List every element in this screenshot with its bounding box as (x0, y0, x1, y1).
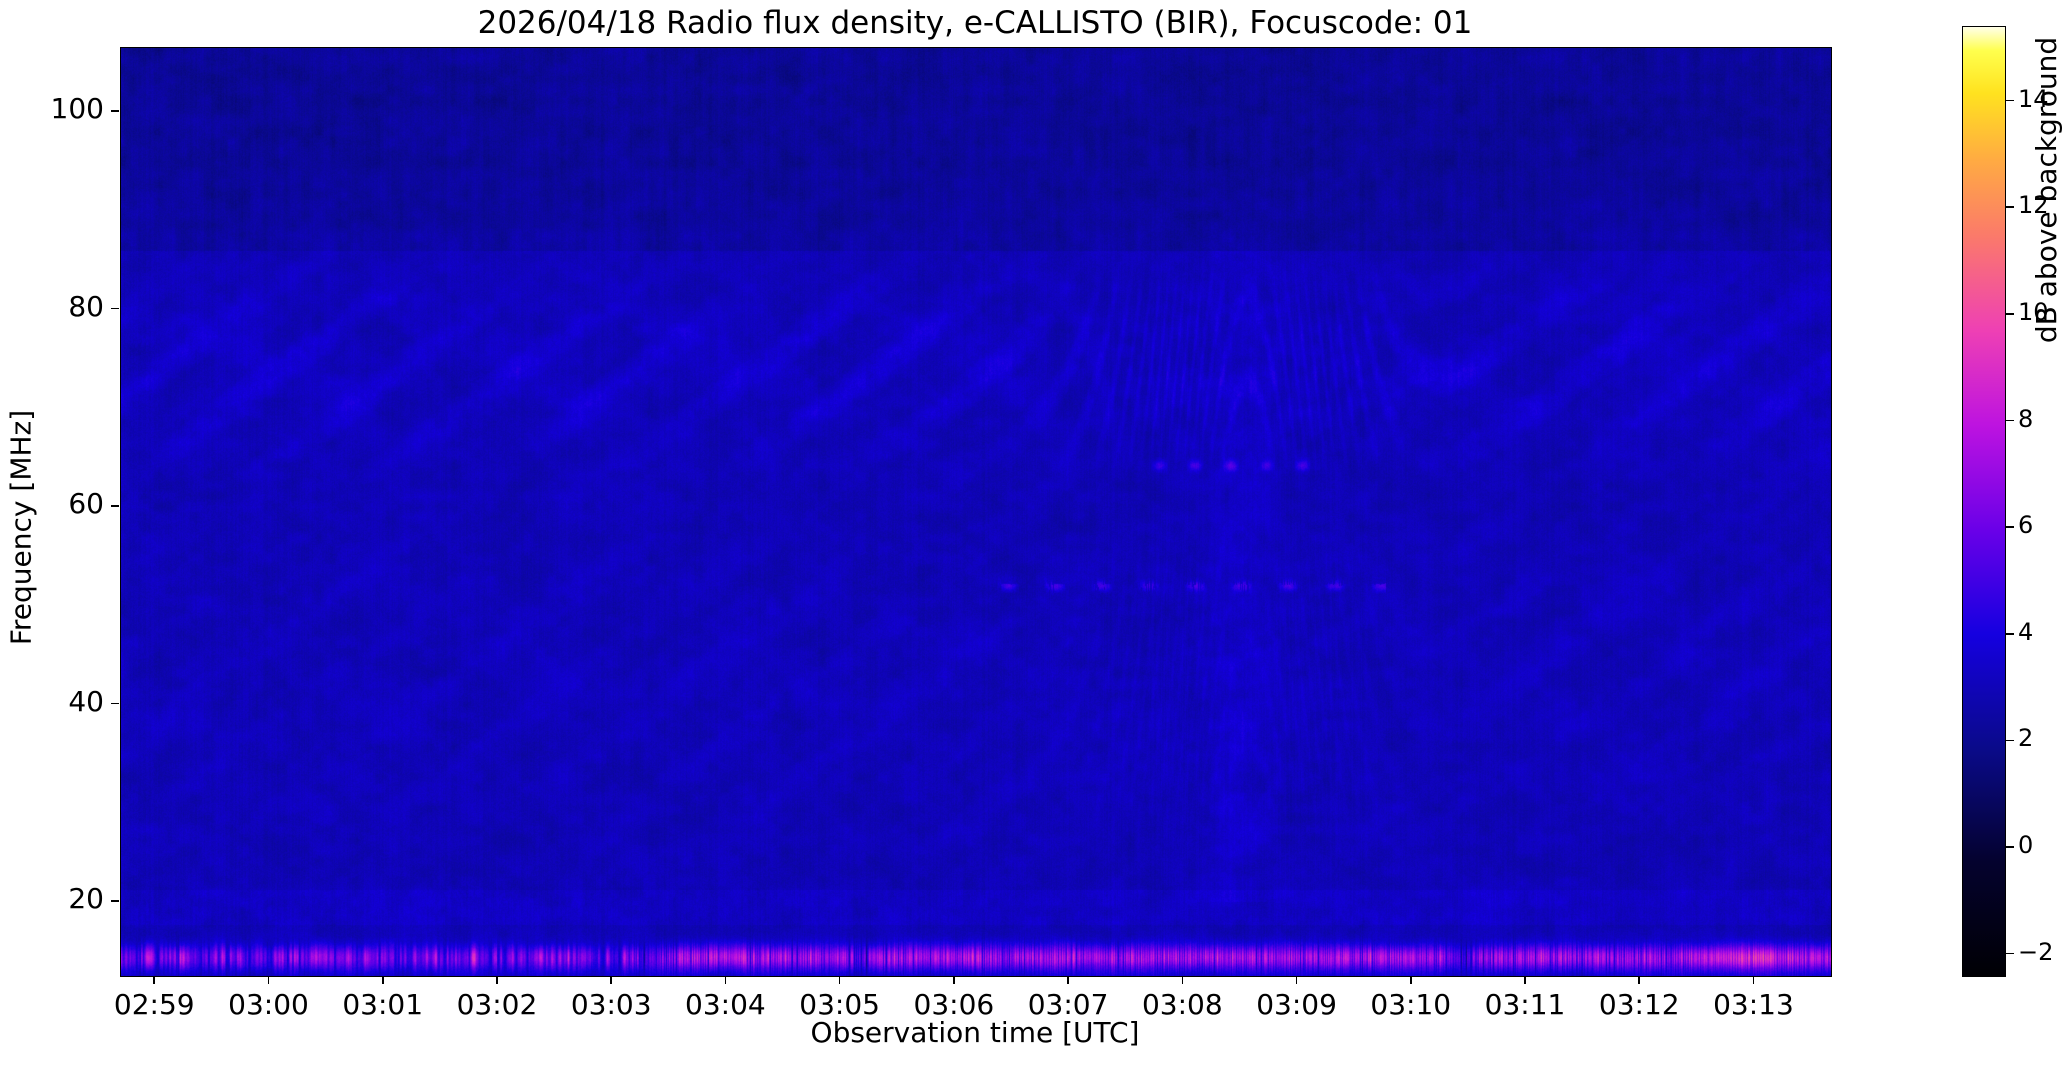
spectrogram-image (121, 48, 1831, 976)
x-tick-mark (382, 976, 384, 984)
x-tick-mark (153, 976, 155, 984)
colorbar-tick-label: 2 (2018, 724, 2033, 752)
colorbar-label: dB above background (2030, 0, 2063, 500)
y-tick-label: 20 (68, 882, 104, 915)
y-tick-label: 100 (51, 92, 104, 125)
x-axis-label: Observation time [UTC] (120, 1016, 1830, 1049)
x-tick-mark (839, 976, 841, 984)
y-tick-mark (111, 900, 119, 902)
spectrogram-axes[interactable] (120, 47, 1832, 977)
colorbar-gradient (1963, 27, 2005, 976)
y-tick-mark (111, 308, 119, 310)
colorbar-tick-mark (2006, 313, 2014, 315)
colorbar-tick-mark (2006, 100, 2014, 102)
y-tick-label: 80 (68, 290, 104, 323)
colorbar-tick-label: 6 (2018, 511, 2033, 539)
x-tick-mark (1182, 976, 1184, 984)
colorbar-tick-label: 0 (2018, 831, 2033, 859)
colorbar-tick-label: 4 (2018, 618, 2033, 646)
y-tick-label: 40 (68, 685, 104, 718)
colorbar-tick-mark (2006, 846, 2014, 848)
y-tick-mark (111, 110, 119, 112)
x-tick-mark (1296, 976, 1298, 984)
x-tick-mark (268, 976, 270, 984)
y-tick-mark (111, 703, 119, 705)
x-tick-mark (496, 976, 498, 984)
colorbar-tick-mark (2006, 420, 2014, 422)
x-tick-mark (1638, 976, 1640, 984)
colorbar-tick-mark (2006, 633, 2014, 635)
colorbar-tick-mark (2006, 206, 2014, 208)
colorbar-tick-mark (2006, 740, 2014, 742)
x-tick-mark (1067, 976, 1069, 984)
x-tick-mark (1753, 976, 1755, 984)
x-tick-mark (610, 976, 612, 984)
x-tick-mark (1410, 976, 1412, 984)
figure-canvas: 2026/04/18 Radio flux density, e-CALLIST… (0, 0, 2066, 1067)
colorbar-tick-mark (2006, 526, 2014, 528)
colorbar-tick-label: −2 (2018, 938, 2053, 966)
x-tick-mark (1524, 976, 1526, 984)
y-tick-mark (111, 505, 119, 507)
x-tick-mark (725, 976, 727, 984)
page-title: 2026/04/18 Radio flux density, e-CALLIST… (120, 4, 1830, 42)
y-axis-label: Frequency [MHz] (5, 318, 38, 738)
y-tick-label: 60 (68, 487, 104, 520)
x-tick-mark (953, 976, 955, 984)
colorbar[interactable] (1962, 26, 2006, 977)
colorbar-tick-mark (2006, 953, 2014, 955)
